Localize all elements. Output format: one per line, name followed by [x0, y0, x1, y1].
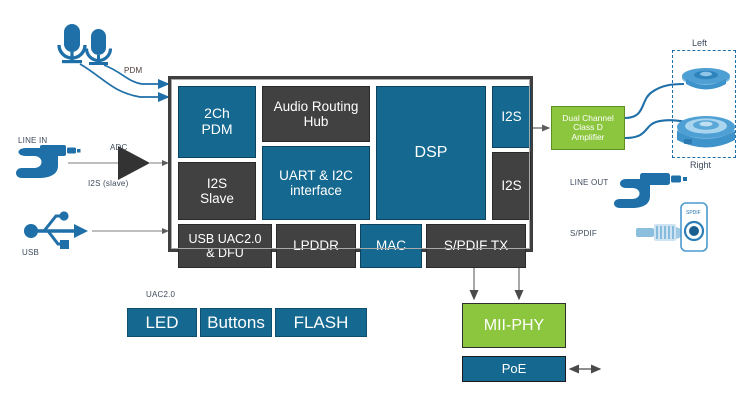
- block-2ch-pdm-line2: PDM: [201, 121, 232, 137]
- block-uart-i2c-line2: interface: [290, 183, 342, 198]
- label-pdm: PDM: [124, 66, 142, 75]
- amplifier-line2: Class D: [573, 122, 603, 132]
- usb-icon: [24, 211, 88, 249]
- block-2ch-pdm-line1: 2Ch: [204, 105, 230, 121]
- block-mac[interactable]: MAC: [360, 224, 422, 268]
- amplifier-line3: Amplifier: [571, 132, 604, 142]
- block-spdif-tx[interactable]: S/PDIF TX: [426, 224, 526, 268]
- microphone-icon: [87, 29, 111, 65]
- block-usb-uac2-line1: USB UAC2.0: [189, 232, 262, 246]
- block-mii-phy[interactable]: MII-PHY: [462, 303, 566, 348]
- block-poe[interactable]: PoE: [462, 356, 566, 382]
- block-i2s-bottom-label: I2S: [501, 178, 521, 193]
- label-uac20: UAC2.0: [146, 290, 175, 299]
- label-line-in: LINE IN: [18, 136, 47, 145]
- block-i2s-slave-line2: Slave: [200, 191, 234, 206]
- block-audio-routing-hub-line2: Hub: [304, 114, 329, 129]
- flash-label: FLASH: [294, 313, 349, 332]
- mii-phy-label: MII-PHY: [484, 317, 544, 335]
- label-spdif: S/PDIF: [570, 229, 597, 238]
- block-lpddr-label: LPDDR: [293, 238, 339, 253]
- amplifier-line1: Dual Channel: [562, 113, 614, 123]
- block-2ch-pdm[interactable]: 2Ch PDM: [178, 86, 256, 158]
- block-diagram-canvas: 2Ch PDM Audio Routing Hub DSP I2S I2S I2…: [0, 0, 749, 420]
- label-i2s-slave-signal: I2S (slave): [88, 179, 128, 188]
- block-lpddr[interactable]: LPDDR: [276, 224, 356, 268]
- led-label: LED: [145, 313, 178, 332]
- block-usb-uac2-dfu[interactable]: USB UAC2.0 & DFU: [178, 224, 272, 268]
- label-usb: USB: [22, 248, 39, 257]
- block-i2s-top-label: I2S: [501, 109, 521, 124]
- block-i2s-slave-line1: I2S: [207, 176, 227, 191]
- block-dsp-label: DSP: [415, 144, 448, 162]
- microphone-icon: [59, 24, 85, 63]
- label-right-speaker: Right: [690, 160, 711, 170]
- block-i2s-slave[interactable]: I2S Slave: [178, 162, 256, 220]
- soc-chip-package: 2Ch PDM Audio Routing Hub DSP I2S I2S I2…: [168, 76, 533, 252]
- block-audio-routing-hub[interactable]: Audio Routing Hub: [262, 86, 370, 142]
- label-left-speaker: Left: [692, 38, 707, 48]
- label-adc: ADC: [110, 143, 128, 152]
- audio-cable-plug-icon: [614, 173, 687, 208]
- buttons-label: Buttons: [207, 313, 265, 332]
- block-led[interactable]: LED: [127, 308, 197, 337]
- block-uart-i2c-interface[interactable]: UART & I2C interface: [262, 146, 370, 220]
- block-dual-channel-class-d-amplifier[interactable]: Dual Channel Class D Amplifier: [551, 106, 625, 150]
- block-dsp[interactable]: DSP: [376, 86, 486, 220]
- poe-label: PoE: [502, 362, 527, 377]
- block-i2s-top[interactable]: I2S: [492, 86, 531, 148]
- block-i2s-bottom[interactable]: I2S: [492, 152, 531, 220]
- block-audio-routing-hub-line1: Audio Routing: [274, 99, 359, 114]
- block-flash[interactable]: FLASH: [275, 308, 367, 337]
- block-buttons[interactable]: Buttons: [200, 308, 272, 337]
- rca-connector-icon: [636, 224, 692, 241]
- speaker-enclosure-outline: [672, 50, 736, 158]
- label-line-out: LINE OUT: [570, 178, 609, 187]
- block-mac-label: MAC: [376, 238, 406, 253]
- block-uart-i2c-line1: UART & I2C: [279, 168, 353, 183]
- block-spdif-tx-label: S/PDIF TX: [444, 238, 508, 253]
- label-spdif-port: SPDIF: [686, 210, 701, 216]
- block-usb-uac2-line2: & DFU: [206, 246, 244, 260]
- audio-cable-plug-icon: [16, 145, 81, 178]
